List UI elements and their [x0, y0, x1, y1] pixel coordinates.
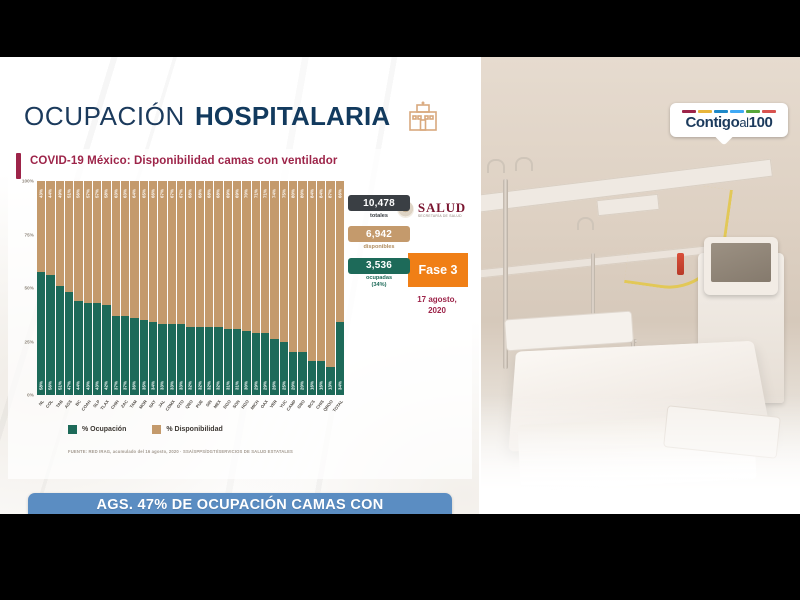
bar-value-label-disponibilidad: 69%: [235, 189, 240, 198]
bar-segment-ocupacion: 56%: [46, 275, 54, 395]
bar-value-label-disponibilidad: 75%: [281, 189, 286, 198]
chart-legend: % Ocupación% Disponibilidad: [68, 425, 223, 434]
bar-segment-ocupacion: 43%: [84, 303, 92, 395]
x-axis-tick: MICH: [252, 397, 260, 423]
kpi-caption: totales: [348, 213, 410, 220]
x-axis-tick: HGO: [242, 397, 250, 423]
x-axis-tick: TAM: [130, 397, 138, 423]
bar-value-label-ocupacion: 33%: [160, 381, 165, 390]
bar-value-label-ocupacion: 56%: [48, 381, 53, 390]
bar-column: 58%42%: [102, 181, 110, 395]
chart-source-note: FUENTE: RED IRAG, acumulado del 16 agost…: [68, 449, 293, 454]
bar-value-label-ocupacion: 43%: [85, 381, 90, 390]
x-axis-tick: COAH: [84, 397, 92, 423]
x-axis-tick: DGO: [224, 397, 232, 423]
broadcast-frame: OCUPACIÓN HOSPITALARIA COVID-: [0, 57, 800, 514]
logo-word-contigo: Contigo: [685, 114, 739, 131]
x-axis-tick: SIN: [205, 397, 213, 423]
bar-segment-ocupacion: 16%: [317, 361, 325, 395]
bar-segment-ocupacion: 42%: [102, 305, 110, 395]
bar-segment-disponibilidad: 66%: [336, 181, 344, 322]
bar-value-label-disponibilidad: 71%: [263, 189, 268, 198]
bar-value-label-ocupacion: 32%: [188, 381, 193, 390]
bar-value-label-ocupacion: 47%: [67, 381, 72, 390]
monitor-display: [711, 243, 771, 282]
bar-segment-disponibilidad: 69%: [233, 181, 241, 329]
x-axis-tick: SLP: [93, 397, 101, 423]
bar-segment-ocupacion: 51%: [56, 286, 64, 395]
bar-value-label-disponibilidad: 68%: [216, 189, 221, 198]
lower-third-banner: AGS. 47% DE OCUPACIÓN CAMAS CON VENTILAD…: [28, 493, 452, 514]
slide-date: 17 agosto,2020: [408, 295, 466, 317]
bar-column: 66%34%: [336, 181, 344, 395]
bar-column: 71%29%: [261, 181, 269, 395]
bar-segment-disponibilidad: 68%: [214, 181, 222, 327]
x-axis-tick-label: MOR: [138, 399, 148, 410]
bar-segment-disponibilidad: 67%: [168, 181, 176, 324]
bar-column: 87%13%: [326, 181, 334, 395]
bar-segment-disponibilidad: 66%: [149, 181, 157, 322]
kpi-totales: 10,478totales: [348, 195, 410, 219]
bar-value-label-disponibilidad: 84%: [319, 189, 324, 198]
presentation-slide: OCUPACIÓN HOSPITALARIA COVID-: [0, 57, 479, 514]
bar-segment-ocupacion: 44%: [74, 301, 82, 395]
bar-value-label-disponibilidad: 65%: [141, 189, 146, 198]
bar-column: 56%44%: [74, 181, 82, 395]
x-axis-tick-label: CHIH: [109, 399, 119, 410]
bar-value-label-ocupacion: 37%: [123, 381, 128, 390]
kpi-value: 6,942: [366, 229, 392, 240]
bar-value-label-ocupacion: 33%: [169, 381, 174, 390]
bar-column: 64%36%: [130, 181, 138, 395]
x-axis-tick: SON: [233, 397, 241, 423]
bar-value-label-disponibilidad: 68%: [197, 189, 202, 198]
bar-segment-disponibilidad: 49%: [56, 181, 64, 286]
bar-segment-ocupacion: 20%: [298, 352, 306, 395]
bar-value-label-disponibilidad: 67%: [160, 189, 165, 198]
bar-segment-ocupacion: 58%: [37, 272, 45, 395]
bar-segment-disponibilidad: 68%: [196, 181, 204, 327]
bar-segment-ocupacion: 37%: [121, 316, 129, 395]
bar-segment-disponibilidad: 51%: [65, 181, 73, 292]
bar-segment-disponibilidad: 58%: [102, 181, 110, 305]
bar-column: 67%33%: [158, 181, 166, 395]
bar-column: 68%32%: [186, 181, 194, 395]
x-axis-tick: OAX: [261, 397, 269, 423]
bar-value-label-ocupacion: 31%: [225, 381, 230, 390]
bar-value-label-disponibilidad: 43%: [39, 189, 44, 198]
bar-value-label-disponibilidad: 67%: [179, 189, 184, 198]
logo-strip: [698, 110, 712, 113]
logo-strip: [682, 110, 696, 113]
logo-strip: [730, 110, 744, 113]
logo-strip: [714, 110, 728, 113]
bar-segment-ocupacion: 36%: [130, 318, 138, 395]
bar-column: 69%31%: [233, 181, 241, 395]
bar-column: 63%37%: [112, 181, 120, 395]
logo-wordmark: Contigoal100: [685, 115, 772, 130]
bar-column: 68%32%: [214, 181, 222, 395]
fase-label: Fase 3: [419, 263, 458, 277]
x-axis-tick-label: MEX: [213, 399, 223, 409]
logo-word-al: al: [739, 115, 748, 130]
bar-column: 80%20%: [298, 181, 306, 395]
x-axis-tick: TOTAL: [336, 397, 344, 423]
salud-logo-text: SALUD: [418, 201, 466, 214]
x-axis-tick-label: ZAC: [120, 399, 129, 409]
chart-plot-area: 0%25%50%75%100% 43%58%44%56%49%51%51%47%…: [14, 181, 344, 431]
bar-value-label-ocupacion: 32%: [207, 381, 212, 390]
bar-value-label-disponibilidad: 58%: [104, 189, 109, 198]
bar-segment-ocupacion: 34%: [149, 322, 157, 395]
bar-value-label-ocupacion: 31%: [235, 381, 240, 390]
bar-segment-disponibilidad: 84%: [308, 181, 316, 361]
x-axis-tick-label: GRO: [296, 399, 306, 410]
bar-segment-ocupacion: 32%: [186, 327, 194, 395]
bar-segment-ocupacion: 29%: [261, 333, 269, 395]
kpi-value-pill: 6,942: [348, 226, 410, 242]
bar-value-label-disponibilidad: 66%: [151, 189, 156, 198]
bar-segment-disponibilidad: 71%: [261, 181, 269, 333]
x-axis-tick-label: MICH: [249, 399, 260, 411]
bar-column: 67%33%: [168, 181, 176, 395]
y-axis: 0%25%50%75%100%: [14, 181, 36, 395]
bar-value-label-disponibilidad: 84%: [309, 189, 314, 198]
bar-segment-ocupacion: 37%: [112, 316, 120, 395]
x-axis-tick: GTO: [177, 397, 185, 423]
bar-segment-ocupacion: 33%: [158, 324, 166, 395]
bar-segment-disponibilidad: 80%: [289, 181, 297, 352]
bar-column: 75%25%: [280, 181, 288, 395]
legend-swatch: [152, 425, 161, 434]
bar-segment-ocupacion: 32%: [196, 327, 204, 395]
logo-word-100: 100: [749, 114, 773, 131]
contigo-al-100-logo: Contigoal100: [670, 103, 788, 137]
bar-value-label-disponibilidad: 74%: [272, 189, 277, 198]
screen: OCUPACIÓN HOSPITALARIA COVID-: [0, 0, 800, 600]
bar-value-label-ocupacion: 33%: [179, 381, 184, 390]
bar-column: 84%16%: [317, 181, 325, 395]
x-axis-tick: PUE: [196, 397, 204, 423]
iv-hook-3: [577, 217, 594, 230]
bar-value-label-disponibilidad: 49%: [57, 189, 62, 198]
y-axis-tick: 0%: [27, 393, 34, 398]
bar-segment-disponibilidad: 63%: [121, 181, 129, 316]
bar-segment-ocupacion: 31%: [224, 329, 232, 395]
logo-color-strips: [682, 110, 776, 113]
bar-value-label-disponibilidad: 57%: [85, 189, 90, 198]
bar-value-label-disponibilidad: 44%: [48, 189, 53, 198]
x-axis-tick-label: GTO: [176, 399, 185, 409]
bar-value-label-ocupacion: 43%: [95, 381, 100, 390]
x-axis-tick: VER: [270, 397, 278, 423]
chart-title-accent-bar: [16, 153, 21, 179]
bar-segment-disponibilidad: 68%: [205, 181, 213, 327]
bar-column: 68%32%: [196, 181, 204, 395]
title-part-ocupacion: OCUPACIÓN: [24, 101, 185, 132]
bar-value-label-ocupacion: 13%: [328, 381, 333, 390]
bar-value-label-ocupacion: 20%: [300, 381, 305, 390]
bar-segment-disponibilidad: 63%: [112, 181, 120, 316]
bar-column: 63%37%: [121, 181, 129, 395]
bar-segment-disponibilidad: 80%: [298, 181, 306, 352]
bar-segment-disponibilidad: 75%: [280, 181, 288, 342]
x-axis-tick-label: PUE: [194, 399, 203, 409]
bar-value-label-ocupacion: 25%: [281, 381, 286, 390]
bar-column: 57%43%: [93, 181, 101, 395]
banner-line-1: AGS. 47% DE OCUPACIÓN CAMAS CON: [97, 497, 384, 514]
x-axis-tick: NL: [37, 397, 45, 423]
bar-segment-disponibilidad: 56%: [74, 181, 82, 301]
bar-segment-ocupacion: 32%: [214, 327, 222, 395]
bar-value-label-disponibilidad: 68%: [188, 189, 193, 198]
legend-label: % Disponibilidad: [166, 426, 222, 433]
bar-segment-ocupacion: 26%: [270, 339, 278, 395]
bar-segment-disponibilidad: 67%: [177, 181, 185, 324]
bar-value-label-disponibilidad: 56%: [76, 189, 81, 198]
photo-bottom-fade: [481, 394, 800, 514]
bar-column: 80%20%: [289, 181, 297, 395]
x-axis-tick-label: HGO: [240, 399, 250, 410]
bar-segment-disponibilidad: 70%: [242, 181, 250, 331]
hospital-building-icon: [406, 100, 440, 132]
x-axis-tick-label: QRO: [185, 399, 195, 410]
kpi-value: 10,478: [363, 198, 395, 209]
bar-value-label-ocupacion: 58%: [39, 381, 44, 390]
bar-segment-disponibilidad: 71%: [252, 181, 260, 333]
bar-column: 69%31%: [224, 181, 232, 395]
bar-value-label-ocupacion: 16%: [319, 381, 324, 390]
kpi-caption: ocupadas(34%): [348, 275, 410, 289]
chart-card: COVID-19 México: Disponibilidad camas co…: [8, 149, 472, 479]
kpi-value: 3,536: [366, 260, 392, 271]
bar-value-label-disponibilidad: 68%: [207, 189, 212, 198]
bar-segment-disponibilidad: 57%: [84, 181, 92, 303]
bar-column: 43%58%: [37, 181, 45, 395]
bar-value-label-disponibilidad: 69%: [225, 189, 230, 198]
bar-segment-ocupacion: 20%: [289, 352, 297, 395]
bar-column: 57%43%: [84, 181, 92, 395]
title-part-hospitalaria: HOSPITALARIA: [195, 101, 390, 132]
bar-segment-ocupacion: 43%: [93, 303, 101, 395]
x-axis-tick: CHIH: [112, 397, 120, 423]
logo-strip: [746, 110, 760, 113]
bar-value-label-ocupacion: 42%: [104, 381, 109, 390]
bar-segment-ocupacion: 25%: [280, 342, 288, 396]
x-axis-tick: CDMX: [168, 397, 176, 423]
bar-segment-disponibilidad: 67%: [158, 181, 166, 324]
bar-value-label-disponibilidad: 71%: [253, 189, 258, 198]
bar-segment-ocupacion: 34%: [336, 322, 344, 395]
bar-value-label-disponibilidad: 66%: [337, 189, 342, 198]
bar-value-label-ocupacion: 34%: [151, 381, 156, 390]
x-axis-tick-label: OAX: [259, 399, 269, 409]
bar-value-label-ocupacion: 44%: [76, 381, 81, 390]
x-axis-tick-label: AGS: [64, 399, 74, 409]
bar-column: 44%56%: [46, 181, 54, 395]
bar-value-label-disponibilidad: 64%: [132, 189, 137, 198]
bar-segment-ocupacion: 30%: [242, 331, 250, 395]
bar-segment-ocupacion: 31%: [233, 329, 241, 395]
bed-headboard: [504, 311, 634, 352]
x-axis-tick-label: BCS: [306, 399, 315, 409]
x-axis-tick-label: NAY: [148, 399, 157, 409]
bar-value-label-ocupacion: 20%: [291, 381, 296, 390]
legend-label: % Ocupación: [82, 426, 126, 433]
iv-hook-2: [515, 157, 533, 171]
bar-value-label-disponibilidad: 87%: [328, 189, 333, 198]
y-axis-tick: 75%: [25, 232, 35, 237]
bar-value-label-ocupacion: 29%: [253, 381, 258, 390]
hospital-room-photo: Contigoal100: [479, 57, 800, 514]
x-axis: NLCOLTABAGSBCCOAHSLPTLAXCHIHZACTAMMORNAY…: [37, 397, 344, 423]
bar-column: 70%30%: [242, 181, 250, 395]
bar-column: 71%29%: [252, 181, 260, 395]
bar-value-label-ocupacion: 29%: [263, 381, 268, 390]
y-axis-tick: 50%: [25, 286, 35, 291]
ventilator-monitor-screen: [704, 237, 778, 295]
bar-segment-disponibilidad: 57%: [93, 181, 101, 303]
bar-column: 66%34%: [149, 181, 157, 395]
kpi-group: 10,478totales6,942disponibles3,536ocupad…: [348, 195, 410, 296]
x-axis-tick-label: VER: [269, 399, 278, 409]
kpi-value-pill: 3,536: [348, 258, 410, 274]
bar-value-label-disponibilidad: 67%: [169, 189, 174, 198]
bar-segment-disponibilidad: 43%: [37, 181, 45, 272]
bar-column: 74%26%: [270, 181, 278, 395]
x-axis-tick-label: DGO: [222, 399, 232, 410]
bar-value-label-ocupacion: 51%: [57, 381, 62, 390]
bar-segment-ocupacion: 33%: [177, 324, 185, 395]
bar-value-label-disponibilidad: 80%: [300, 189, 305, 198]
bar-value-label-ocupacion: 35%: [141, 381, 146, 390]
bar-value-label-ocupacion: 32%: [216, 381, 221, 390]
chart-header: COVID-19 México: Disponibilidad camas co…: [8, 149, 472, 183]
bar-value-label-ocupacion: 30%: [244, 381, 249, 390]
y-axis-tick: 100%: [22, 179, 34, 184]
bar-column: 49%51%: [56, 181, 64, 395]
bar-segment-ocupacion: 13%: [326, 367, 334, 395]
page-title: OCUPACIÓN HOSPITALARIA: [24, 93, 444, 139]
bar-column: 68%32%: [205, 181, 213, 395]
x-axis-tick-label: TAB: [55, 399, 64, 409]
bar-column: 65%35%: [140, 181, 148, 395]
bar-segment-ocupacion: 33%: [168, 324, 176, 395]
bar-value-label-disponibilidad: 63%: [123, 189, 128, 198]
kpi-caption: disponibles: [348, 244, 410, 251]
bar-value-label-disponibilidad: 63%: [113, 189, 118, 198]
legend-item: % Ocupación: [68, 425, 126, 434]
x-axis-tick: QRO: [186, 397, 194, 423]
emergency-valve-icon: [677, 253, 684, 275]
y-axis-tick: 25%: [25, 339, 35, 344]
kpi-disponibles: 6,942disponibles: [348, 226, 410, 250]
bar-segment-disponibilidad: 64%: [130, 181, 138, 318]
x-axis-tick: AGS: [65, 397, 73, 423]
bar-segment-ocupacion: 47%: [65, 292, 73, 395]
bar-value-label-ocupacion: 16%: [309, 381, 314, 390]
bar-value-label-disponibilidad: 51%: [67, 189, 72, 198]
bar-segment-disponibilidad: 74%: [270, 181, 278, 339]
x-axis-tick: ZAC: [121, 397, 129, 423]
x-axis-tick: MOR: [140, 397, 148, 423]
x-axis-tick: CAMP: [289, 397, 297, 423]
x-axis-tick: BCS: [308, 397, 316, 423]
bar-value-label-disponibilidad: 57%: [95, 189, 100, 198]
status-badge-fase: Fase 3: [408, 253, 468, 287]
bar-series-container: 43%58%44%56%49%51%51%47%56%44%57%43%57%4…: [37, 181, 344, 395]
x-axis-tick: COL: [46, 397, 54, 423]
bar-segment-disponibilidad: 84%: [317, 181, 325, 361]
bar-column: 84%16%: [308, 181, 316, 395]
bar-segment-disponibilidad: 69%: [224, 181, 232, 329]
x-axis-tick-label: COL: [45, 399, 54, 409]
bar-segment-disponibilidad: 87%: [326, 181, 334, 367]
bar-value-label-ocupacion: 32%: [197, 381, 202, 390]
bar-segment-disponibilidad: 68%: [186, 181, 194, 327]
x-axis-tick: NAY: [149, 397, 157, 423]
bar-segment-ocupacion: 32%: [205, 327, 213, 395]
chart-title: COVID-19 México: Disponibilidad camas co…: [30, 155, 337, 167]
bar-segment-ocupacion: 35%: [140, 320, 148, 395]
bar-segment-disponibilidad: 44%: [46, 181, 54, 275]
iv-hook-1: [487, 159, 505, 173]
bar-value-label-ocupacion: 36%: [132, 381, 137, 390]
logo-strip: [762, 110, 776, 113]
x-axis-tick-label: TAM: [129, 399, 138, 409]
bar-value-label-disponibilidad: 80%: [291, 189, 296, 198]
legend-swatch: [68, 425, 77, 434]
x-axis-tick: MEX: [214, 397, 222, 423]
bar-segment-ocupacion: 16%: [308, 361, 316, 395]
x-axis-tick: TAB: [56, 397, 64, 423]
bar-value-label-ocupacion: 26%: [272, 381, 277, 390]
x-axis-tick-label: SON: [231, 399, 241, 409]
bar-segment-ocupacion: 29%: [252, 333, 260, 395]
bar-column: 51%47%: [65, 181, 73, 395]
bar-segment-disponibilidad: 65%: [140, 181, 148, 320]
x-axis-tick-label: TLAX: [100, 399, 111, 411]
salud-logo-subtitle: SECRETARÍA DE SALUD: [418, 215, 466, 218]
bar-value-label-ocupacion: 34%: [337, 381, 342, 390]
bar-column: 67%33%: [177, 181, 185, 395]
kpi-ocupadas: 3,536ocupadas(34%): [348, 258, 410, 289]
x-axis-tick: GRO: [298, 397, 306, 423]
x-axis-tick: TLAX: [102, 397, 110, 423]
bar-value-label-disponibilidad: 70%: [244, 189, 249, 198]
bar-value-label-ocupacion: 37%: [113, 381, 118, 390]
legend-item: % Disponibilidad: [152, 425, 222, 434]
kpi-value-pill: 10,478: [348, 195, 410, 211]
